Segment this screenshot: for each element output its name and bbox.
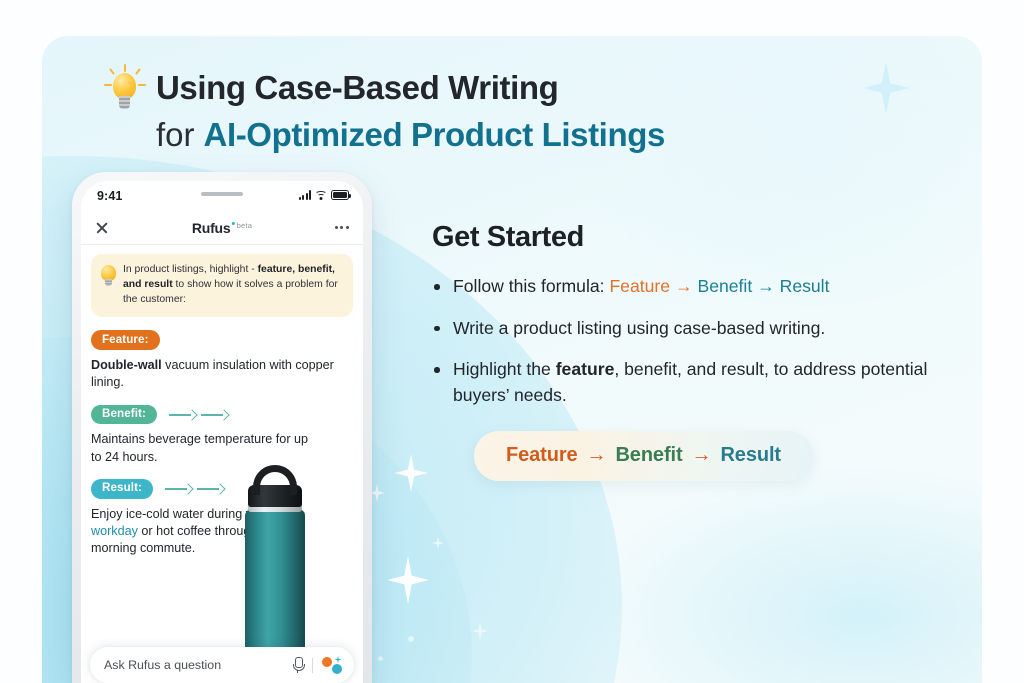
speaker-notch (201, 192, 243, 196)
phone-app-bar: Rufus beta (81, 211, 363, 245)
brand-beta-label: beta (237, 221, 253, 230)
list-item: Write a product listing using case-based… (432, 316, 962, 342)
phone-screen: 9:41 Rufus beta (81, 181, 363, 683)
brand-name: Rufus (192, 220, 231, 236)
ask-rufus-input-bar[interactable]: Ask Rufus a question (90, 647, 354, 683)
tip-callout: In product listings, highlight - feature… (91, 254, 353, 317)
screenshot-canvas: Using Case-Based Writing for AI-Optimize… (0, 0, 1024, 683)
rufus-ai-logo-icon[interactable] (322, 656, 342, 674)
page-title: Using Case-Based Writing for AI-Optimize… (104, 64, 804, 154)
microphone-icon[interactable] (292, 657, 303, 673)
divider (312, 658, 313, 673)
close-icon[interactable] (95, 221, 109, 235)
pill-arrow-icon: → (587, 444, 607, 466)
rufus-brand-logo: Rufus beta (192, 220, 252, 236)
four-point-sparkle-icon (394, 454, 428, 492)
instruction-list: Follow this formula: Feature → Benefit →… (432, 274, 962, 409)
title-line-1: Using Case-Based Writing (156, 69, 558, 107)
arrow-right-icon (197, 483, 224, 494)
arrow-group (169, 409, 228, 420)
bullet-3-pre: Highlight the (453, 359, 556, 379)
formula-benefit: Benefit (697, 276, 752, 296)
list-item: Follow this formula: Feature → Benefit →… (432, 274, 962, 300)
arrow-right-icon (165, 483, 192, 494)
tip-text: In product listings, highlight - feature… (123, 263, 343, 307)
formula-callout-pill: Feature→Benefit→Result (474, 431, 813, 481)
wifi-icon (315, 190, 327, 200)
result-body-link[interactable]: workday (91, 524, 138, 538)
arrow-right-icon (201, 409, 228, 420)
four-point-sparkle-icon (387, 556, 429, 604)
formula-feature: Feature (609, 276, 670, 296)
title-line-2-prefix: for (156, 116, 195, 154)
phone-status-bar: 9:41 (81, 181, 363, 211)
badge-feature: Feature: (91, 330, 160, 350)
pill-result: Result (720, 444, 781, 466)
infographic-card: Using Case-Based Writing for AI-Optimize… (42, 36, 982, 683)
bullet-3-bold: feature (556, 359, 615, 379)
four-point-sparkle-icon (472, 622, 488, 640)
background-swoosh (582, 466, 982, 683)
formula-arrow-icon: → (670, 276, 697, 296)
result-badge-row: Result: (91, 479, 353, 499)
title-line-2-accent: AI-Optimized Product Listings (204, 116, 665, 154)
search-input-placeholder[interactable]: Ask Rufus a question (104, 658, 292, 672)
tip-text-part1: In product listings, highlight - (123, 264, 258, 275)
phone-mockup: 9:41 Rufus beta (72, 172, 372, 683)
four-point-sparkle-icon (432, 536, 444, 550)
four-point-sparkle-icon (862, 62, 910, 114)
decorative-dot (408, 636, 414, 642)
arrow-group (165, 483, 224, 494)
brand-dot-icon (231, 222, 235, 226)
pill-arrow-icon: → (692, 444, 712, 466)
get-started-panel: Get Started Follow this formula: Feature… (432, 221, 962, 481)
list-item: Highlight the feature, benefit, and resu… (432, 357, 962, 408)
chat-body: In product listings, highlight - feature… (81, 245, 363, 683)
pill-benefit: Benefit (615, 444, 682, 466)
decorative-dot (378, 656, 383, 661)
lightbulb-icon (100, 264, 117, 286)
teal-water-bottle-image (239, 467, 311, 663)
benefit-badge-row: Benefit: (91, 405, 353, 425)
formula-result: Result (780, 276, 830, 296)
benefit-body: Maintains beverage temperature for up to… (91, 431, 309, 466)
feature-body-bold: Double-wall (91, 358, 162, 372)
status-time: 9:41 (97, 189, 122, 203)
badge-result: Result: (91, 479, 153, 499)
feature-badge-row: Feature: (91, 330, 353, 350)
formula-arrow-icon: → (752, 276, 779, 296)
arrow-right-icon (169, 409, 196, 420)
battery-full-icon (331, 190, 349, 200)
section-title: Get Started (432, 221, 962, 254)
bullet-1-prefix: Follow this formula: (453, 276, 609, 296)
cellular-bars-icon (299, 190, 312, 200)
lightbulb-icon (104, 64, 146, 112)
feature-body: Double-wall vacuum insulation with coppe… (91, 357, 336, 392)
badge-benefit: Benefit: (91, 405, 157, 425)
more-options-icon[interactable] (335, 226, 349, 229)
pill-feature: Feature (506, 444, 578, 466)
